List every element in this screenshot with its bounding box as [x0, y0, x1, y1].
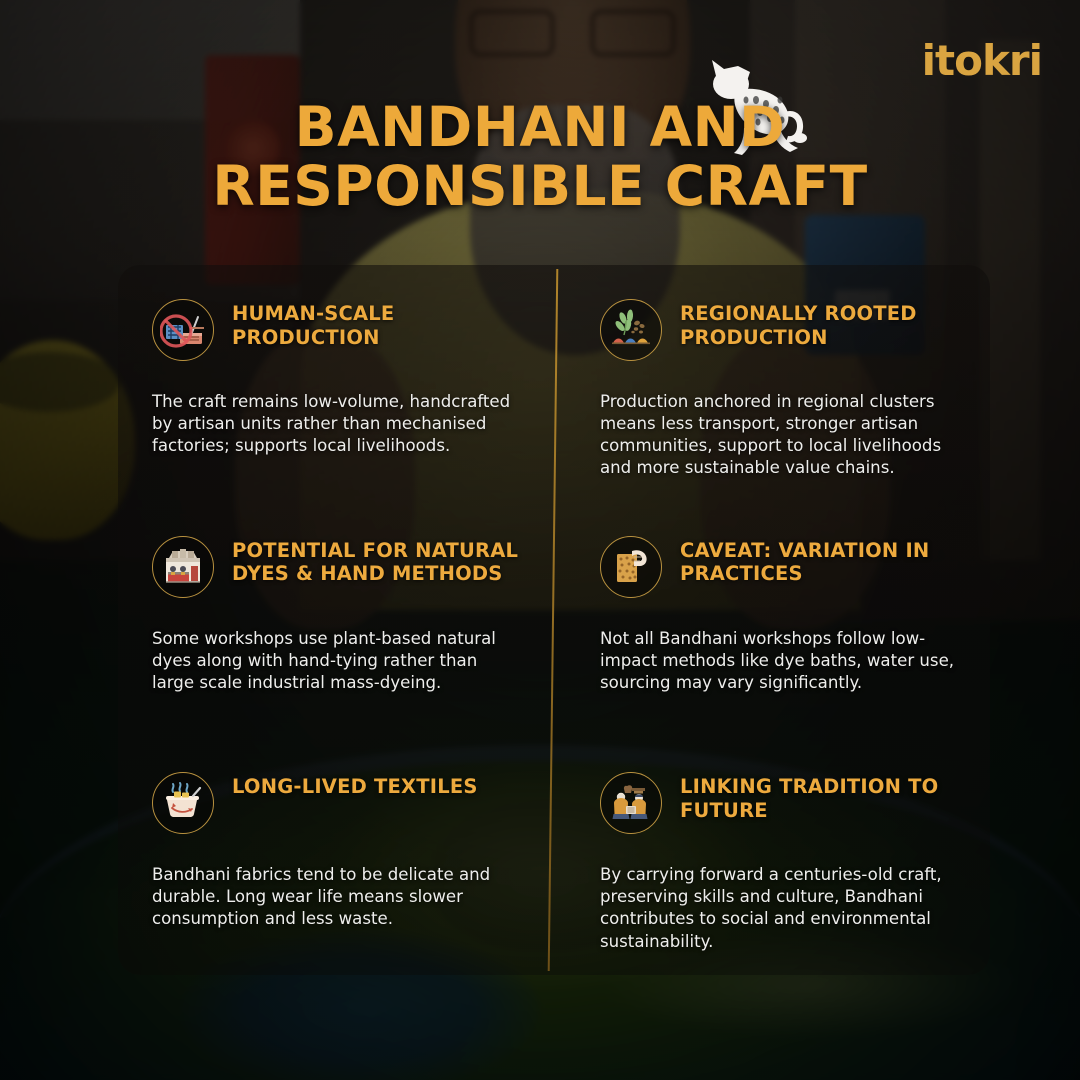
page-title: BANDHANI AND RESPONSIBLE CRAFT [0, 98, 1080, 216]
card-linking-tradition-to-future: LINKING TRADITION TO FUTURE By carrying … [554, 738, 990, 975]
card-title: POTENTIAL FOR NATURAL DYES & HAND METHOD… [232, 534, 520, 587]
card-header: POTENTIAL FOR NATURAL DYES & HAND METHOD… [152, 534, 520, 598]
card-human-scale-production: HUMAN-SCALE PRODUCTION The craft remains… [118, 265, 554, 502]
card-regionally-rooted-production: REGIONALLY ROOTED PRODUCTION Production … [554, 265, 990, 502]
card-long-lived-textiles: LONG-LIVED TEXTILES Bandhani fabrics ten… [118, 738, 554, 975]
card-title: REGIONALLY ROOTED PRODUCTION [680, 297, 970, 350]
card-body: Some workshops use plant-based natural d… [152, 628, 520, 694]
no-factory-icon [152, 299, 214, 361]
workshop-building-icon [152, 536, 214, 598]
content-panel: HUMAN-SCALE PRODUCTION The craft remains… [118, 265, 990, 975]
two-artisans-icon [600, 772, 662, 834]
brand-logo[interactable]: itokri [922, 40, 1042, 82]
card-body: Production anchored in regional clusters… [600, 391, 970, 479]
card-header: CAVEAT: VARIATION IN PRACTICES [600, 534, 970, 598]
card-header: HUMAN-SCALE PRODUCTION [152, 297, 520, 361]
card-header: LONG-LIVED TEXTILES [152, 770, 520, 834]
card-header: LINKING TRADITION TO FUTURE [600, 770, 970, 834]
brand-logo-text: itokri [922, 36, 1042, 85]
card-body: Bandhani fabrics tend to be delicate and… [152, 864, 520, 930]
card-title: CAVEAT: VARIATION IN PRACTICES [680, 534, 970, 587]
steaming-dye-pot-icon [152, 772, 214, 834]
cards-grid: HUMAN-SCALE PRODUCTION The craft remains… [118, 265, 990, 975]
card-title: LINKING TRADITION TO FUTURE [680, 770, 970, 823]
card-caveat-variation-in-practices: CAVEAT: VARIATION IN PRACTICES Not all B… [554, 502, 990, 739]
sprout-and-dye-powders-icon [600, 299, 662, 361]
hand-holding-patterned-fabric-icon [600, 536, 662, 598]
page-title-line-1: BANDHANI AND [150, 98, 930, 157]
card-header: REGIONALLY ROOTED PRODUCTION [600, 297, 970, 361]
card-title: HUMAN-SCALE PRODUCTION [232, 297, 520, 350]
card-body: The craft remains low-volume, handcrafte… [152, 391, 520, 457]
card-body: Not all Bandhani workshops follow low-im… [600, 628, 970, 694]
card-body: By carrying forward a centuries-old craf… [600, 864, 970, 952]
page-title-line-2: RESPONSIBLE CRAFT [150, 157, 930, 216]
card-title: LONG-LIVED TEXTILES [232, 770, 478, 799]
card-natural-dyes-hand-methods: POTENTIAL FOR NATURAL DYES & HAND METHOD… [118, 502, 554, 739]
